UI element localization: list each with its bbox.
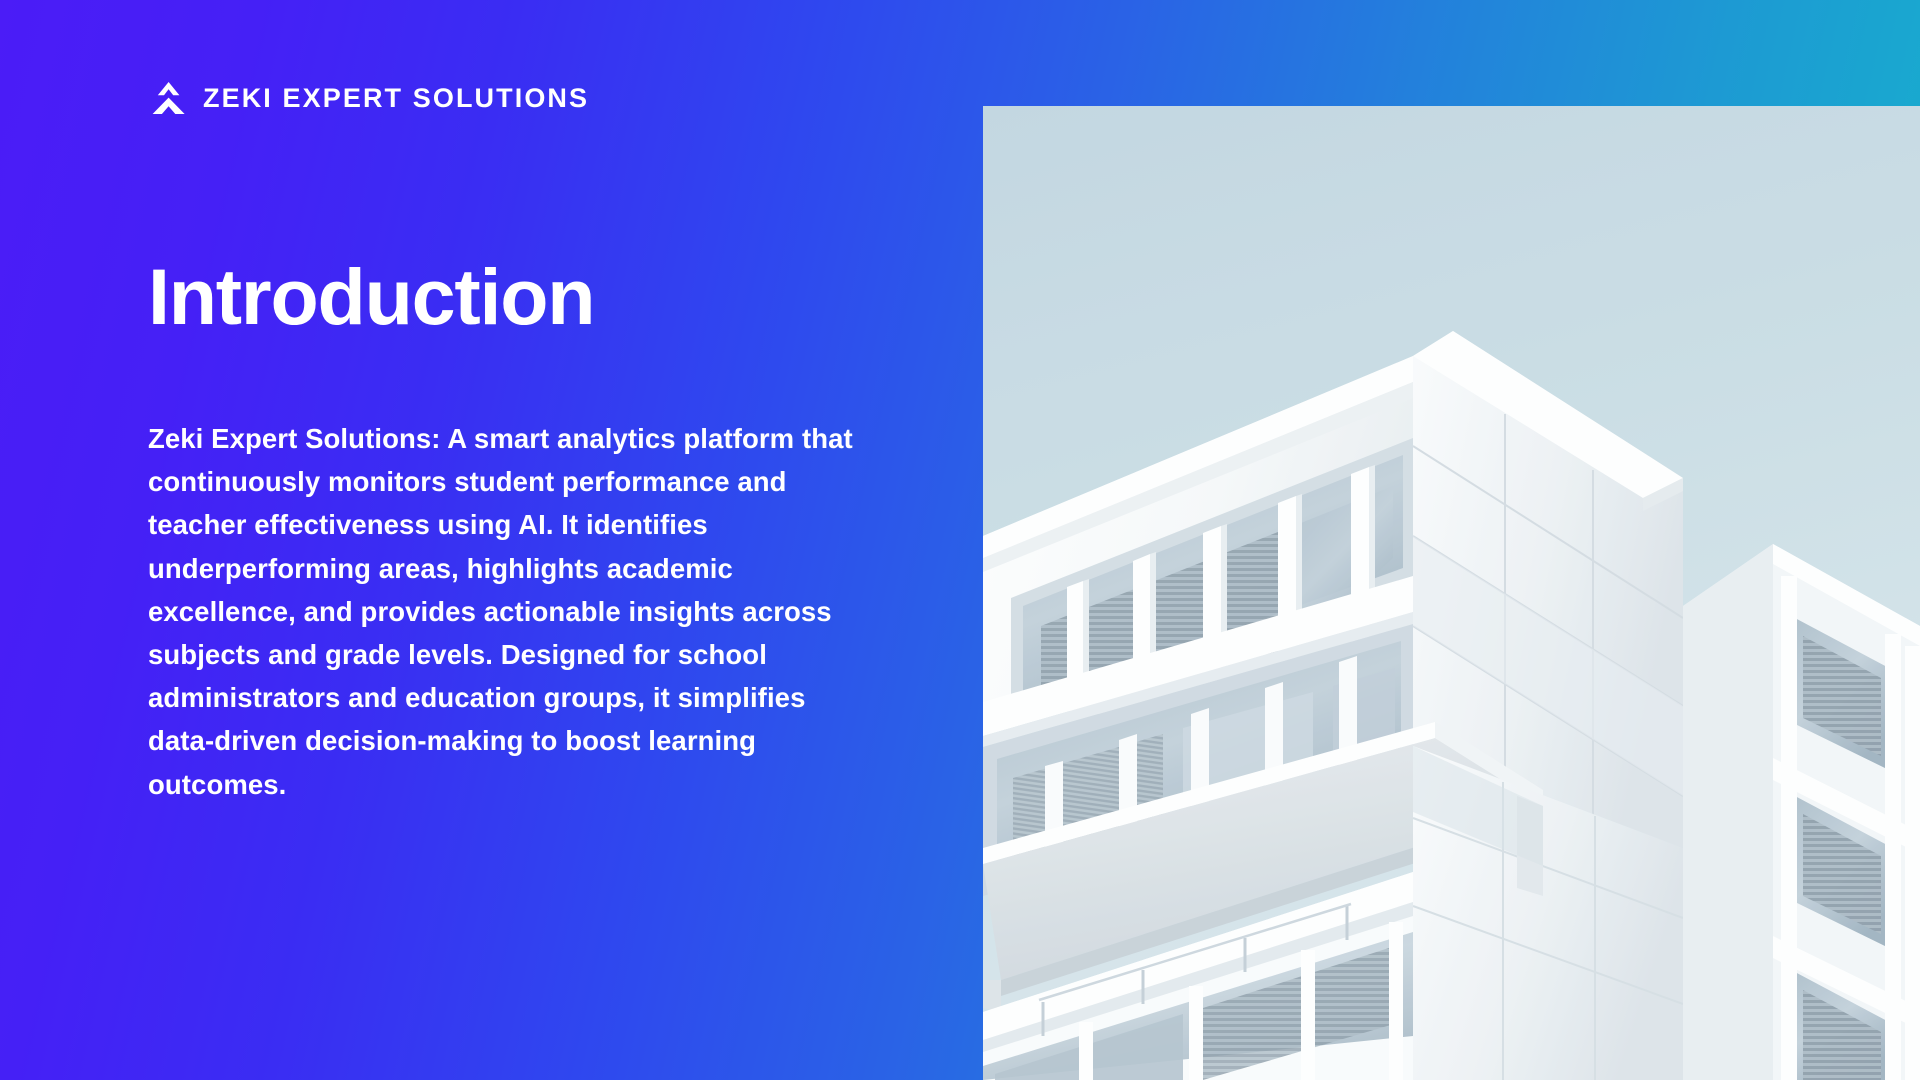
brand-name: ZEKI EXPERT SOLUTIONS <box>203 85 589 112</box>
mountain-chevron-icon <box>148 82 190 114</box>
slide-root: ZEKI EXPERT SOLUTIONS Introduction Zeki … <box>0 0 1920 1080</box>
architecture-photo <box>983 106 1920 1080</box>
page-title: Introduction <box>148 256 594 339</box>
body-paragraph: Zeki Expert Solutions: A smart analytics… <box>148 417 874 806</box>
building-illustration <box>983 106 1920 1080</box>
left-content-column: ZEKI EXPERT SOLUTIONS Introduction Zeki … <box>0 0 983 1080</box>
brand-logo[interactable]: ZEKI EXPERT SOLUTIONS <box>148 82 589 114</box>
